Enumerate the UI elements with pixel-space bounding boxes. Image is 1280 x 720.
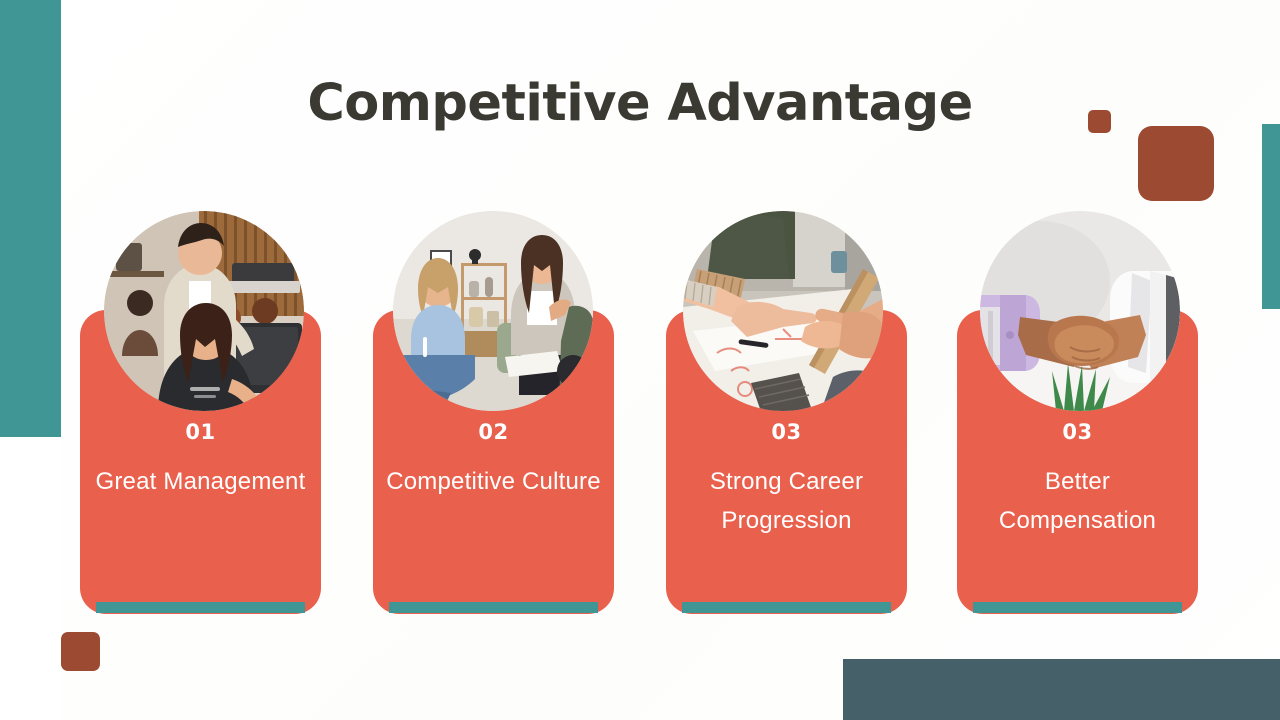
card-4-photo xyxy=(980,211,1180,411)
card-2-photo xyxy=(393,211,593,411)
card-1-label: Great Management xyxy=(88,462,313,501)
card-1-number: 01 xyxy=(88,422,313,443)
card-2-text-block: 02 Competitive Culture xyxy=(373,422,614,501)
card-3-text-block: 03 Strong Career Progression xyxy=(666,422,907,540)
card-3-photo xyxy=(683,211,883,411)
card-4-number: 03 xyxy=(965,422,1190,443)
card-4-underline xyxy=(973,602,1182,613)
card-3-underline xyxy=(682,602,891,613)
card-2-number: 02 xyxy=(381,422,606,443)
card-3-label: Strong Career Progression xyxy=(674,462,899,540)
card-4-label: Better Compensation xyxy=(965,462,1190,540)
card-1-photo xyxy=(104,211,304,411)
card-1-underline xyxy=(96,602,305,613)
cards-container: 01 Great Management 02 Competitive Cultu… xyxy=(0,0,1280,720)
card-1-text-block: 01 Great Management xyxy=(80,422,321,501)
card-4-text-block: 03 Better Compensation xyxy=(957,422,1198,540)
card-3-number: 03 xyxy=(674,422,899,443)
card-2-underline xyxy=(389,602,598,613)
slide-canvas: Competitive Advantage 01 Great Managemen… xyxy=(0,0,1280,720)
card-2-label: Competitive Culture xyxy=(381,462,606,501)
